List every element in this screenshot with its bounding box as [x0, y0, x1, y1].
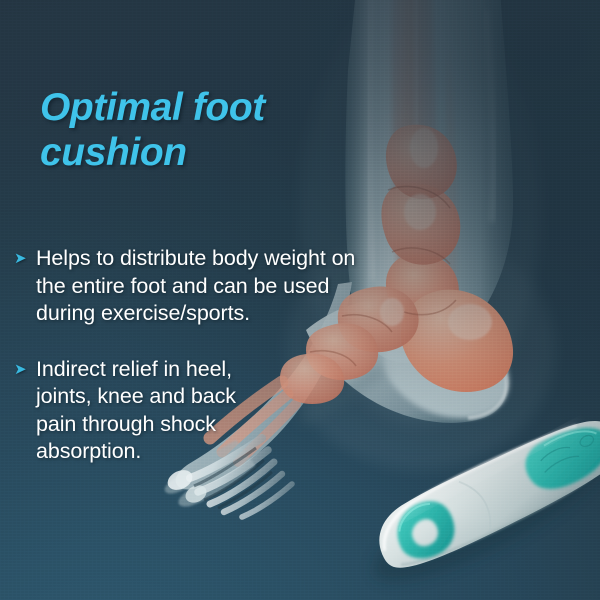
product-feature-poster: Optimal foot cushion ➤ Helps to distribu… — [0, 0, 600, 600]
background-vignette — [0, 0, 600, 600]
